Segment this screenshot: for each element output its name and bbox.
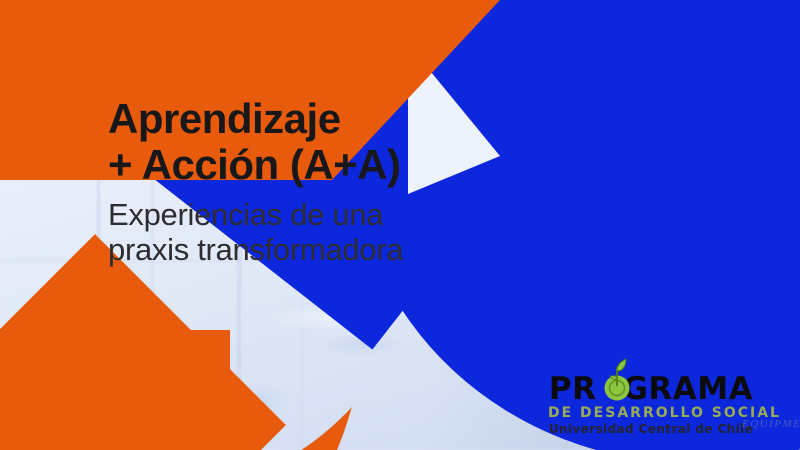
- presentation-slide: Aprendizaje + Acción (A+A) Experiencias …: [0, 0, 800, 450]
- subtitle-line-1: Experiencias de una: [108, 197, 383, 232]
- orange-bottom-block-shape: [0, 330, 230, 450]
- slide-title: Aprendizaje + Acción (A+A): [108, 96, 528, 188]
- programa-logo: PRGRAMA DE DESARROLLO SOCIAL Universidad…: [548, 374, 754, 436]
- subtitle-line-2: praxis transformadora: [108, 232, 528, 267]
- background-watermark: EQUIPMENT: [742, 418, 800, 430]
- title-line-1: Aprendizaje: [108, 95, 341, 142]
- title-line-2: + Acción (A+A): [108, 142, 528, 188]
- logo-institution: Universidad Central de Chile: [548, 423, 754, 436]
- logo-wordmark: PRGRAMA: [548, 374, 754, 405]
- logo-word-suffix: GRAMA: [622, 371, 753, 407]
- slide-subtitle: Experiencias de una praxis transformador…: [108, 197, 528, 267]
- logo-tagline: DE DESARROLLO SOCIAL: [548, 406, 754, 421]
- headline-block: Aprendizaje + Acción (A+A) Experiencias …: [108, 96, 528, 267]
- logo-word-prefix: PR: [549, 371, 597, 407]
